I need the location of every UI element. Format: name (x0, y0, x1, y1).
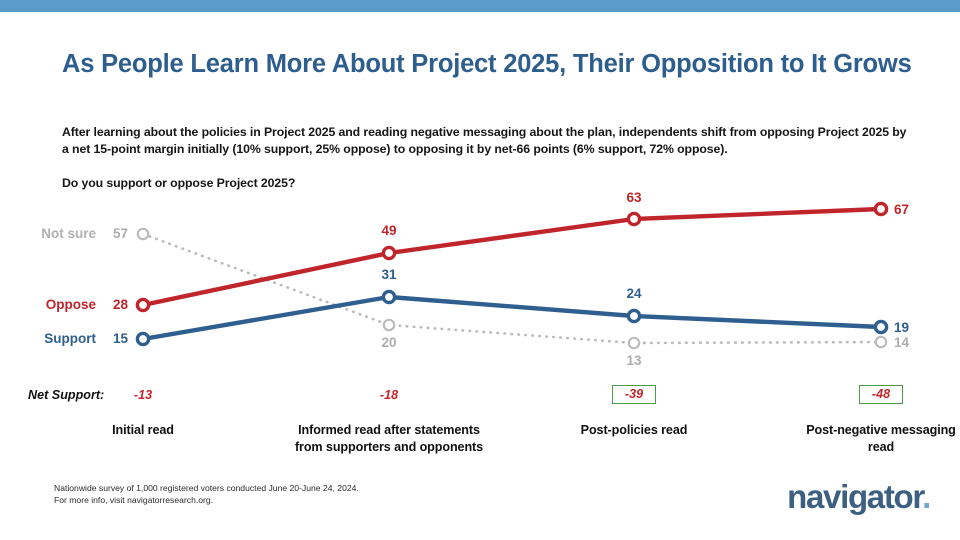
net-support-value-3: -39 (612, 385, 656, 404)
page-title: As People Learn More About Project 2025,… (62, 48, 922, 81)
data-point-oppose-2 (383, 247, 394, 258)
line-chart: Not sure Oppose Support 57 28 15 49 31 2… (0, 190, 960, 370)
subtitle-text: After learning about the policies in Pro… (62, 124, 912, 159)
value-oppose-4: 67 (894, 202, 934, 217)
category-label-4: Post-negative messaging read (806, 422, 956, 455)
series-line-not-sure (143, 234, 881, 343)
category-label-1: Initial read (63, 422, 223, 439)
value-not-sure-2: 20 (369, 335, 409, 350)
legend-label-support: Support (6, 331, 96, 346)
data-point-not-sure-2 (384, 320, 394, 330)
navigator-logo: navigator. (787, 478, 930, 516)
footnote-line-2: For more info, visit navigatorresearch.o… (54, 494, 359, 506)
data-point-support-2 (383, 291, 394, 302)
category-label-2: Informed read after statements from supp… (289, 422, 489, 455)
value-support-2: 31 (369, 267, 409, 282)
net-support-value-2: -18 (364, 388, 414, 402)
data-point-not-sure-1 (138, 229, 148, 239)
data-point-not-sure-3 (629, 338, 639, 348)
value-support-1: 15 (100, 331, 128, 346)
data-point-oppose-4 (875, 203, 886, 214)
net-support-value-1: -13 (118, 388, 168, 402)
net-support-label: Net Support: (28, 388, 104, 402)
data-point-support-3 (628, 310, 639, 321)
value-oppose-1: 28 (100, 297, 128, 312)
series-line-support (143, 297, 881, 339)
net-support-value-4: -48 (859, 385, 903, 404)
footnote-line-1: Nationwide survey of 1,000 registered vo… (54, 482, 359, 494)
data-point-not-sure-4 (876, 337, 886, 347)
chart-svg (0, 190, 960, 370)
survey-question: Do you support or oppose Project 2025? (62, 176, 295, 190)
data-point-support-1 (137, 333, 148, 344)
legend-label-oppose: Oppose (6, 297, 96, 312)
value-not-sure-4: 14 (894, 335, 934, 350)
legend-label-not-sure: Not sure (6, 226, 96, 241)
data-point-oppose-3 (628, 213, 639, 224)
logo-text: navigator (787, 478, 922, 515)
data-point-oppose-1 (137, 299, 148, 310)
value-oppose-2: 49 (369, 223, 409, 238)
value-support-4: 19 (894, 320, 934, 335)
data-point-support-4 (875, 321, 886, 332)
value-not-sure-1: 57 (100, 226, 128, 241)
value-not-sure-3: 13 (614, 353, 654, 368)
value-oppose-3: 63 (614, 190, 654, 205)
footnote: Nationwide survey of 1,000 registered vo… (54, 482, 359, 507)
value-support-3: 24 (614, 286, 654, 301)
category-label-3: Post-policies read (559, 422, 709, 439)
logo-dot: . (922, 478, 930, 515)
series-line-oppose (143, 209, 881, 305)
top-accent-bar (0, 0, 960, 12)
